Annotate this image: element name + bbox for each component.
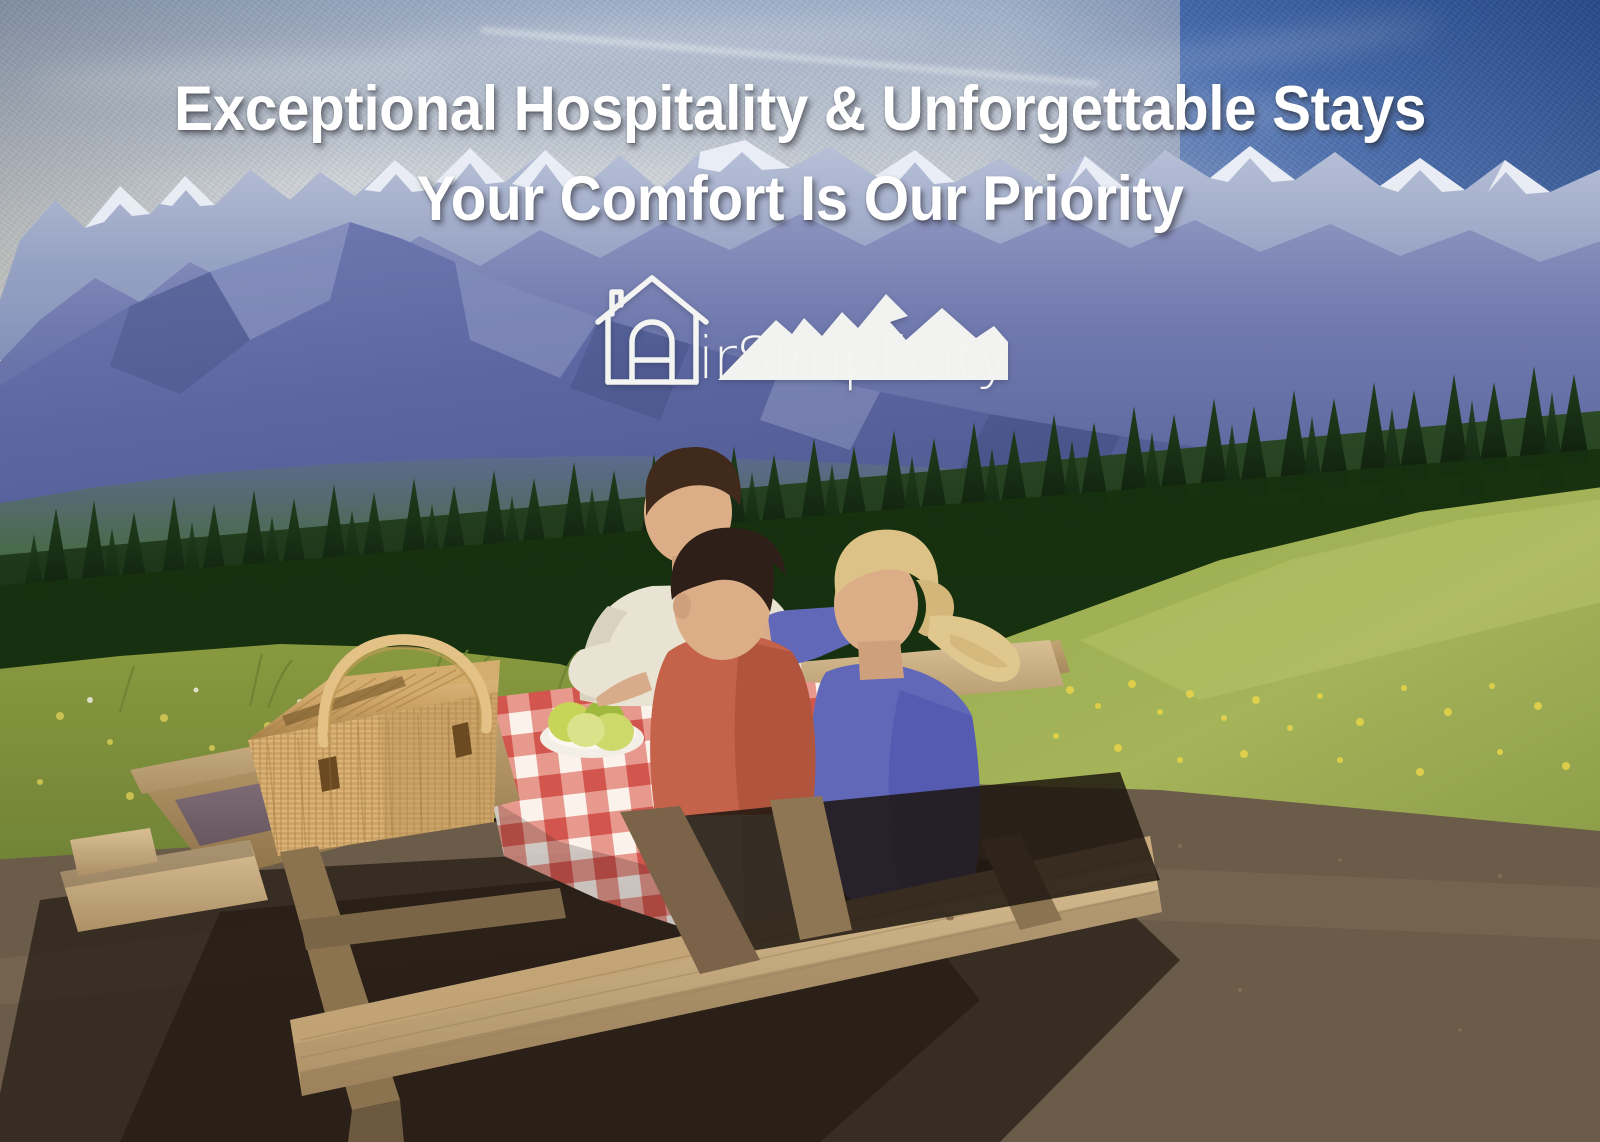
headline-line-2: Your Comfort Is Our Priority	[56, 168, 1544, 231]
headline-block: Exceptional Hospitality & Unforgettable …	[0, 78, 1600, 231]
headline-line-1: Exceptional Hospitality & Unforgettable …	[56, 78, 1544, 141]
house-outline-icon	[598, 278, 706, 382]
brand-logo[interactable]: irSimplicity	[0, 268, 1600, 396]
airsimplicity-logo-mark[interactable]: irSimplicity	[590, 268, 1010, 396]
hero-banner: Exceptional Hospitality & Unforgettable …	[0, 0, 1600, 1142]
logo-wordmark: irSimplicity	[698, 324, 1010, 392]
